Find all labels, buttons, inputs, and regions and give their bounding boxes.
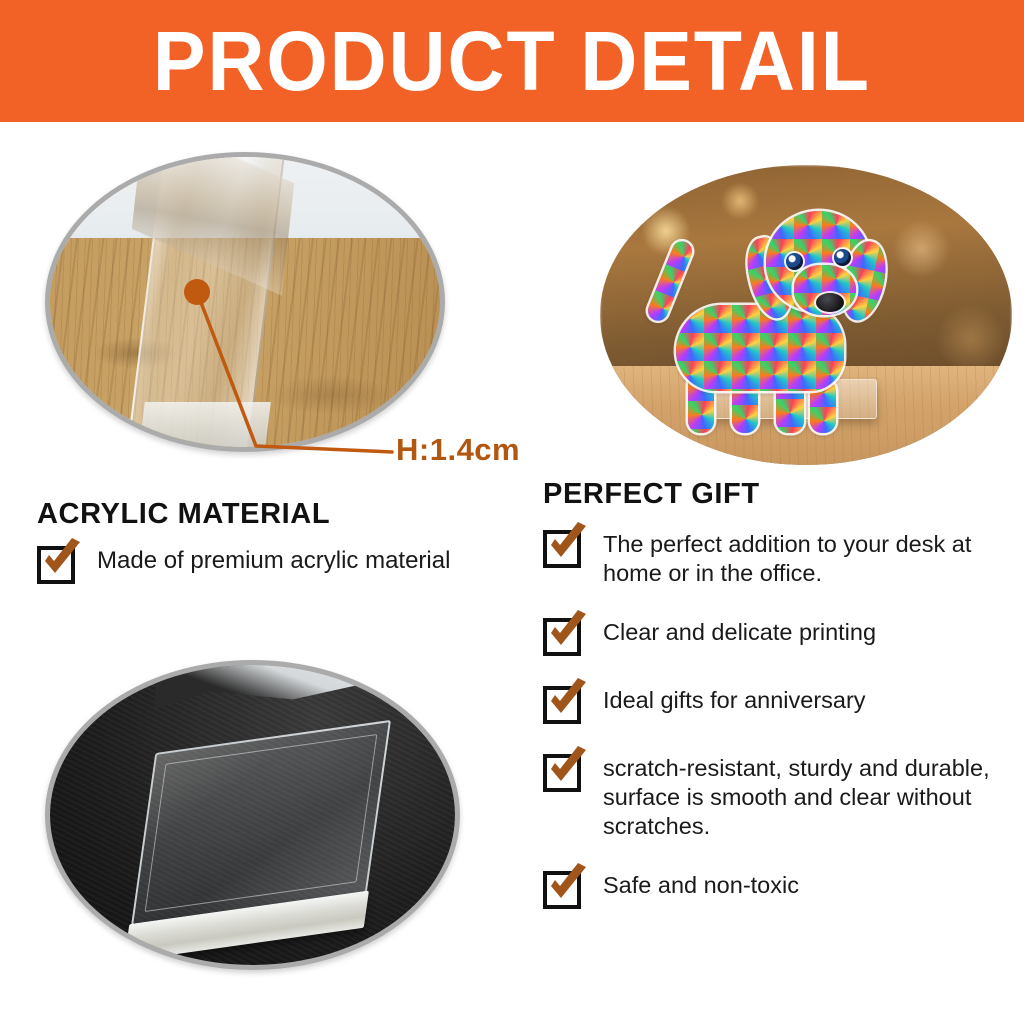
feature-text: Ideal gifts for anniversary: [603, 680, 866, 715]
section-heading-acrylic-material: ACRYLIC MATERIAL: [37, 498, 330, 531]
photo-canvas: [600, 165, 1012, 465]
checkbox-checked-icon: [543, 682, 585, 724]
photo-canvas: [50, 665, 455, 965]
feature-item: Made of premium acrylic material: [37, 540, 517, 584]
dog-body: [676, 305, 844, 391]
feature-item: scratch-resistant, sturdy and durable, s…: [543, 748, 1013, 841]
feature-list-perfect-gift: The perfect addition to your desk at hom…: [543, 524, 1013, 933]
feature-item: Ideal gifts for anniversary: [543, 680, 1013, 724]
feature-text: Made of premium acrylic material: [97, 540, 450, 576]
dachshund-acrylic-plaque-photo: [600, 165, 1012, 465]
dog-eye-left: [786, 253, 803, 270]
feature-item: Clear and delicate printing: [543, 612, 1013, 656]
acrylic-edge-on-wood-photo: [45, 152, 445, 452]
acrylic-block-foot: [139, 402, 271, 448]
checkmark-icon: [542, 744, 592, 794]
dog-eye-right: [834, 249, 851, 266]
checkbox-checked-icon: [37, 542, 79, 584]
feature-text: scratch-resistant, sturdy and durable, s…: [603, 748, 1013, 841]
feature-text: Clear and delicate printing: [603, 612, 876, 647]
feature-item: The perfect addition to your desk at hom…: [543, 524, 1013, 588]
checkmark-icon: [542, 861, 592, 911]
feature-text: Safe and non-toxic: [603, 865, 799, 900]
section-heading-perfect-gift: PERFECT GIFT: [543, 478, 760, 511]
feature-item: Safe and non-toxic: [543, 865, 1013, 909]
checkmark-icon: [542, 520, 592, 570]
page-header-banner: PRODUCT DETAIL: [0, 0, 1024, 122]
height-callout-label: H:1.4cm: [396, 432, 520, 468]
checkbox-checked-icon: [543, 750, 585, 792]
acrylic-slab-inner-reflection: [145, 734, 378, 912]
acrylic-slab-object: [131, 720, 391, 926]
checkbox-checked-icon: [543, 526, 585, 568]
photo-canvas: [50, 157, 440, 447]
checkmark-icon: [36, 536, 86, 586]
checkbox-checked-icon: [543, 614, 585, 656]
acrylic-slab-on-slate-photo: [45, 660, 460, 970]
dachshund-figure: [658, 201, 898, 433]
checkmark-icon: [542, 676, 592, 726]
page-title: PRODUCT DETAIL: [153, 19, 871, 103]
feature-list-acrylic-material: Made of premium acrylic material: [37, 540, 517, 610]
feature-text: The perfect addition to your desk at hom…: [603, 524, 1013, 588]
checkbox-checked-icon: [543, 867, 585, 909]
checkmark-icon: [542, 608, 592, 658]
dog-nose: [816, 293, 844, 312]
